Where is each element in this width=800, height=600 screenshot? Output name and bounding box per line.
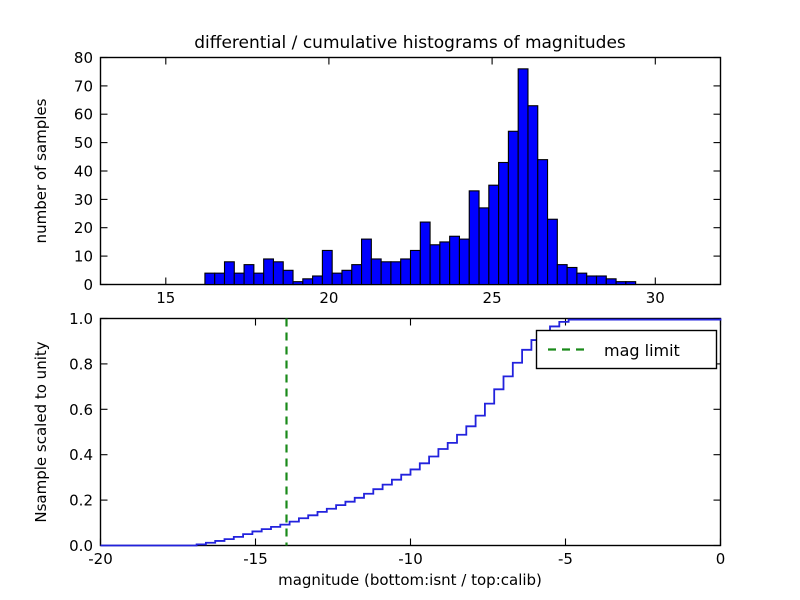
histogram-bar	[411, 250, 421, 284]
histogram-bar	[606, 279, 616, 285]
top-panel-y-axis-label: number of samples	[32, 98, 50, 243]
histogram-bar	[362, 239, 372, 284]
histogram-bar	[322, 250, 332, 284]
histogram-bar	[440, 242, 450, 285]
histogram-bar	[401, 259, 411, 285]
bottom-xtick-label-m5: -5	[558, 550, 573, 568]
bottom-ytick-label-10: 1.0	[69, 310, 93, 328]
bottom-xtick-label-m10: -10	[398, 550, 423, 568]
histogram-bar	[215, 273, 225, 284]
top-ytick-label-20: 20	[74, 219, 93, 237]
histogram-bar	[391, 262, 401, 285]
histogram-bar	[508, 131, 518, 284]
bottom-xtick-label-m15: -15	[243, 550, 268, 568]
top-xtick-label-25: 25	[483, 289, 502, 307]
histogram-bar	[567, 267, 577, 284]
top-ytick-label-10: 10	[74, 248, 93, 266]
top-ytick-label-50: 50	[74, 134, 93, 152]
top-ytick-label-60: 60	[74, 106, 93, 124]
top-xtick-label-15: 15	[156, 289, 175, 307]
bottom-panel-y-axis-label: Nsample scaled to unity	[32, 341, 50, 522]
bottom-xtick-label-0: 0	[716, 550, 726, 568]
histogram-bar	[597, 276, 607, 285]
histogram-bar	[293, 282, 303, 285]
histogram-bar	[371, 259, 381, 285]
legend[interactable]: mag limit	[537, 331, 717, 369]
histogram-bar	[518, 69, 528, 285]
histogram-bar	[352, 265, 362, 285]
histogram-bar	[450, 236, 460, 284]
histogram-bar	[244, 265, 254, 285]
histogram-bar	[469, 191, 479, 285]
bottom-ytick-label-08: 0.8	[69, 355, 93, 373]
histogram-bar	[557, 265, 567, 285]
chart-title: differential / cumulative histograms of …	[194, 33, 626, 53]
top-ytick-label-80: 80	[74, 49, 93, 67]
histogram-bar	[577, 273, 587, 284]
top-xtick-label-30: 30	[646, 289, 665, 307]
histogram-bar	[254, 273, 264, 284]
histogram-bar	[626, 282, 636, 285]
histogram-bar	[459, 239, 469, 284]
histogram-bar	[479, 208, 489, 285]
top-ytick-label-40: 40	[74, 163, 93, 181]
bottom-ytick-label-02: 0.2	[69, 492, 93, 510]
histogram-bar	[234, 273, 244, 284]
histogram-bar	[303, 279, 313, 285]
matplotlib-figure: differential / cumulative histograms of …	[0, 0, 800, 600]
histogram-bar	[538, 160, 548, 285]
top-ytick-label-0: 0	[83, 276, 93, 294]
histogram-bar	[548, 219, 558, 284]
figure-canvas: differential / cumulative histograms of …	[0, 0, 800, 600]
histogram-bar	[225, 262, 235, 285]
histogram-bar	[499, 162, 509, 284]
x-axis-label: magnitude (bottom:isnt / top:calib)	[278, 571, 542, 589]
histogram-bar	[420, 222, 430, 284]
histogram-bar	[616, 282, 626, 285]
bottom-ytick-label-06: 0.6	[69, 401, 93, 419]
legend-label-mag-limit: mag limit	[604, 341, 680, 360]
top-ytick-label-30: 30	[74, 191, 93, 209]
histogram-bar	[381, 262, 391, 285]
histogram-bar	[205, 273, 215, 284]
histogram-bar	[528, 106, 538, 285]
histogram-bar	[273, 262, 283, 285]
histogram-bar	[332, 273, 342, 284]
histogram-bar	[489, 185, 499, 284]
top-xtick-label-20: 20	[319, 289, 338, 307]
top-ytick-label-70: 70	[74, 77, 93, 95]
histogram-bar	[264, 259, 274, 285]
figure-background	[0, 0, 800, 600]
histogram-bar	[313, 276, 323, 285]
histogram-bar	[283, 270, 293, 284]
bottom-xtick-label-m20: -20	[88, 550, 113, 568]
histogram-bar	[587, 276, 597, 285]
histogram-bar	[342, 270, 352, 284]
histogram-bar	[430, 245, 440, 285]
bottom-ytick-label-04: 0.4	[69, 446, 93, 464]
